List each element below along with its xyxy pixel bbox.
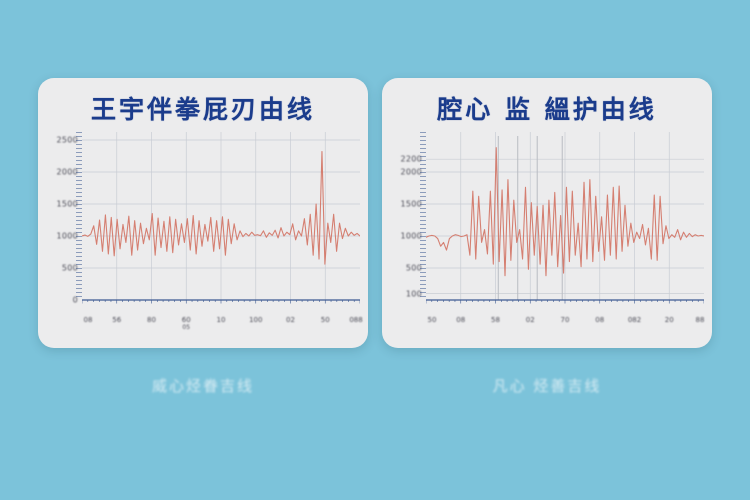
chart-title-right: 腔心 监 縕护由线 [382,90,712,126]
x-axis-labels-left: 0856806005101000250088 [82,314,360,334]
waveform-svg-right [426,132,704,314]
chart-card-right[interactable]: 腔心 监 縕护由线 2200200015001000500100 5008580… [382,78,712,348]
x-tick-label: 08 [595,316,604,324]
y-tick-label: 2000 [56,168,78,177]
caption-left: 威心烃眷吉线 [38,375,368,396]
x-tick-label: 02 [286,316,295,324]
x-tick-label: 58 [491,316,500,324]
x-tick-label: 88 [696,316,705,324]
x-tick-label: 08 [456,316,465,324]
x-tick-label: 56 [112,316,121,324]
y-tick-label: 1500 [56,200,78,209]
panel-container: 王宇伴拳屁刃由线 25002000150010005000 0856806005… [0,0,750,500]
x-tick-label: 088 [349,316,362,324]
x-tick-label: 100 [249,316,262,324]
y-tick-label: 1000 [56,232,78,241]
plot-canvas-right [426,132,704,314]
x-tick-label: 70 [561,316,570,324]
x-tick-label: 08 [84,316,93,324]
x-tick-label: 80 [147,316,156,324]
screenshot-root: 王宇伴拳屁刃由线 25002000150010005000 0856806005… [0,0,750,500]
x-tick-label: 20 [665,316,674,324]
y-tick-label: 1000 [400,232,422,241]
y-axis-labels-left: 25002000150010005000 [38,132,80,312]
x-tick-sublabel: 05 [182,324,190,331]
plot-area-right: 2200200015001000500100 50085802700808220… [382,132,712,337]
x-axis-labels-right: 5008580270080822088 [426,314,704,334]
x-tick-label: 02 [526,316,535,324]
y-tick-label: 1500 [400,200,422,209]
caption-right: 凡心 烃善吉线 [382,375,712,396]
plot-canvas-left [82,132,360,314]
waveform-svg-left [82,132,360,314]
x-tick-label: 082 [628,316,641,324]
x-tick-label: 10 [217,316,226,324]
y-tick-label: 2200 [400,155,422,164]
plot-area-left: 25002000150010005000 0856806005101000250… [38,132,368,337]
chart-card-left[interactable]: 王宇伴拳屁刃由线 25002000150010005000 0856806005… [38,78,368,348]
y-axis-labels-right: 2200200015001000500100 [382,132,424,312]
y-tick-label: 2000 [400,168,422,177]
x-tick-label: 60 [182,316,191,324]
x-tick-label: 50 [428,316,437,324]
y-tick-label: 2500 [56,136,78,145]
x-tick-label: 50 [321,316,330,324]
chart-title-left: 王宇伴拳屁刃由线 [38,90,368,126]
